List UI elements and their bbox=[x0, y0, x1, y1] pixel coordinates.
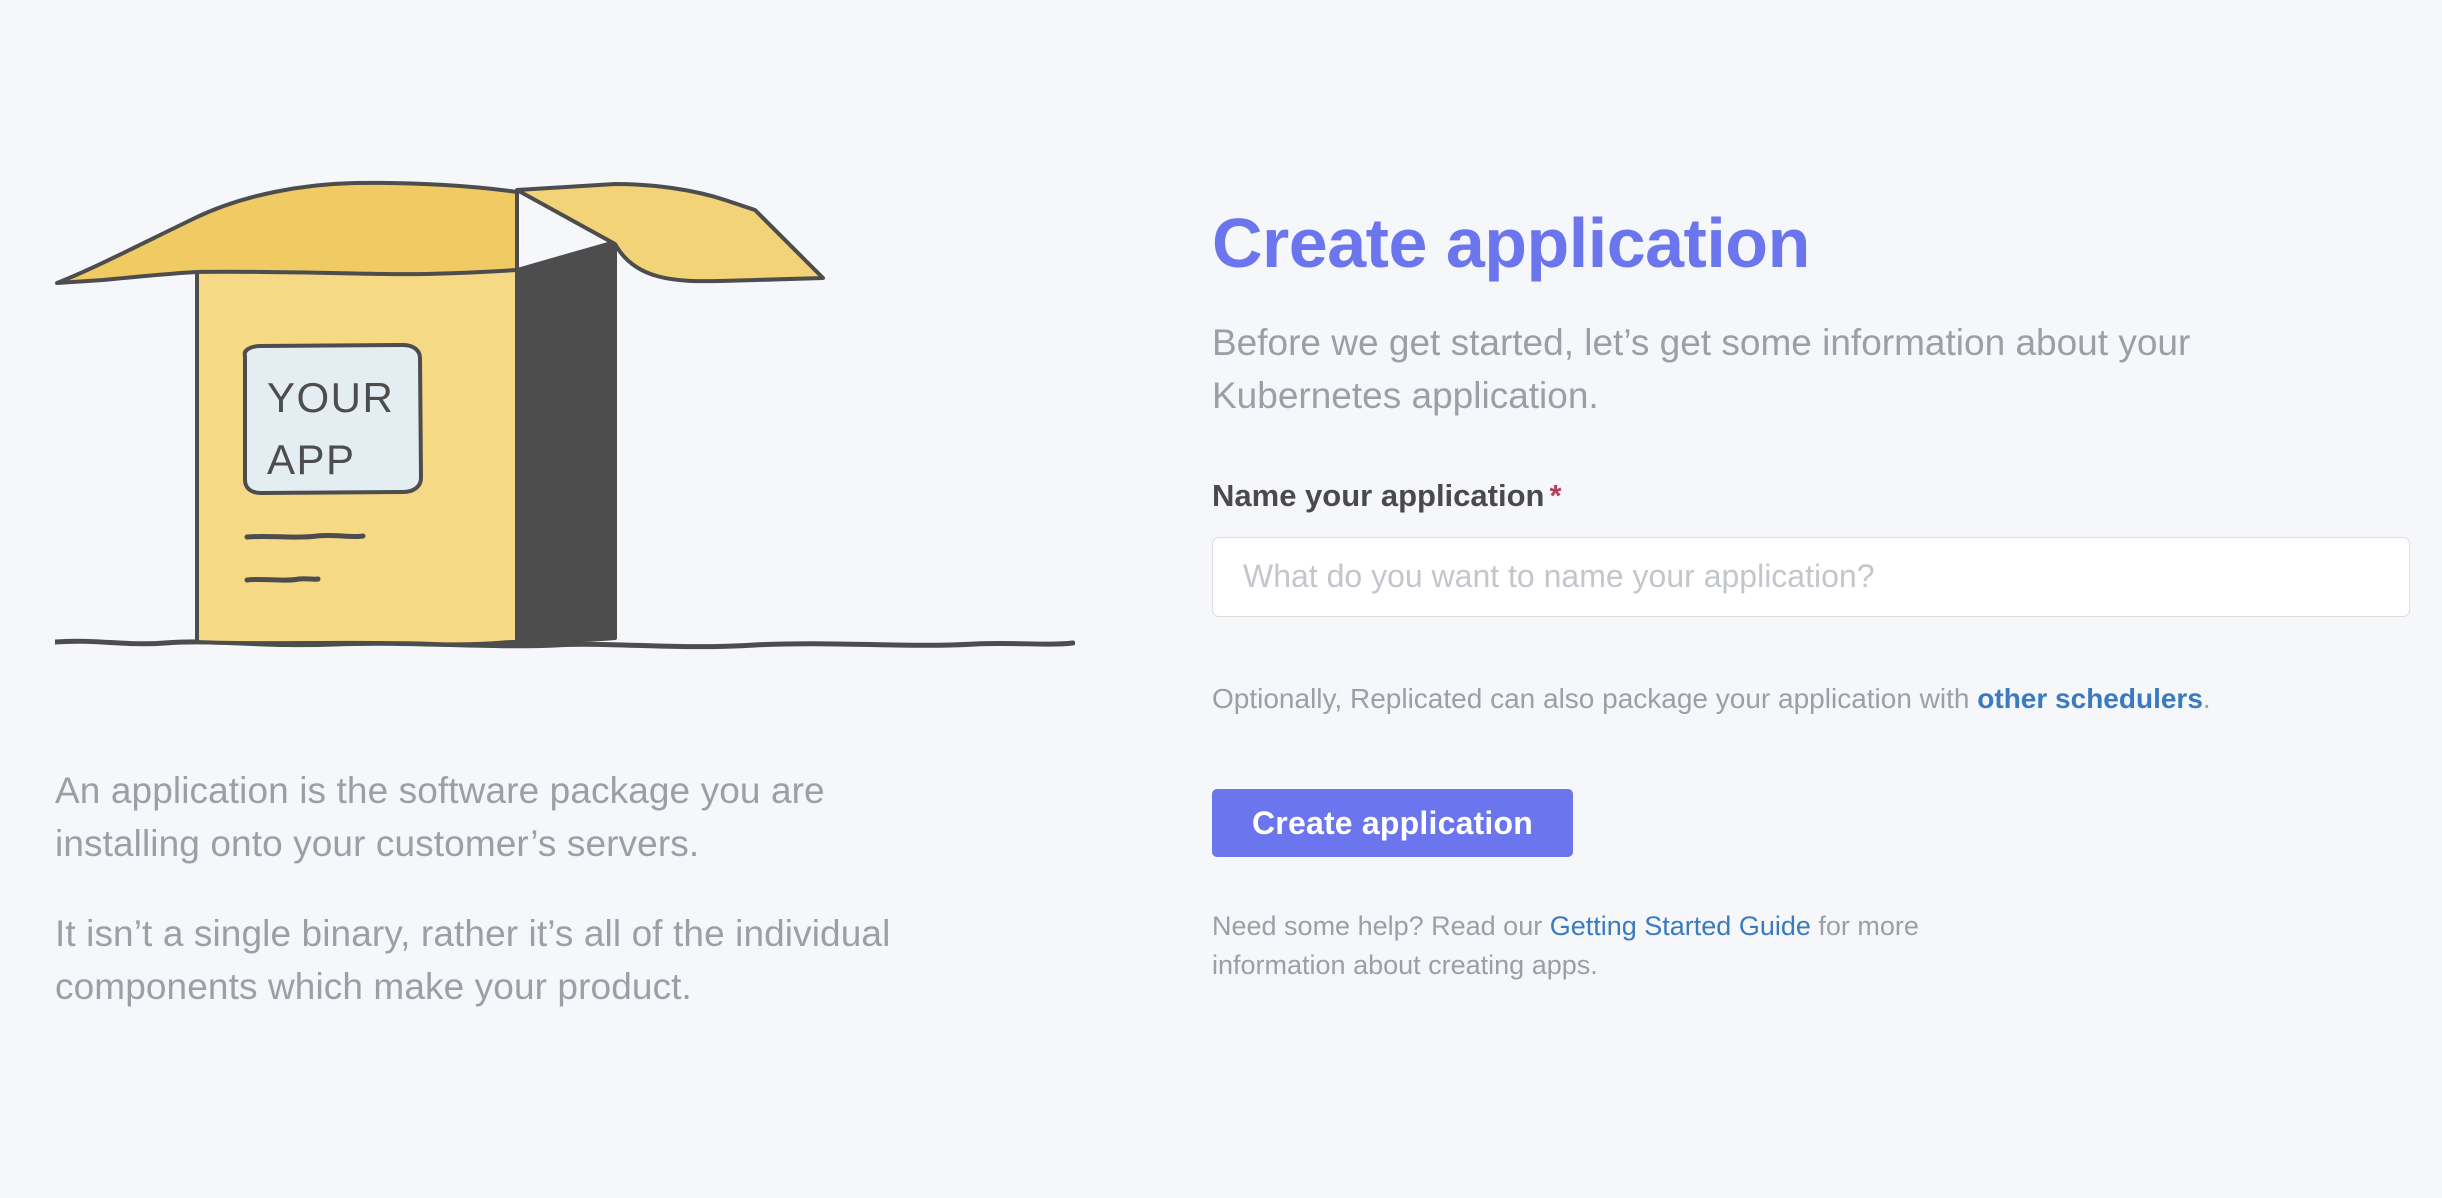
description-paragraph-2: It isn’t a single binary, rather it’s al… bbox=[55, 908, 955, 1013]
page-subtitle: Before we get started, let’s get some in… bbox=[1212, 316, 2352, 423]
help-note: Need some help? Read our Getting Started… bbox=[1212, 907, 2012, 985]
right-column: Create application Before we get started… bbox=[1212, 208, 2412, 1012]
application-name-field-group: Name your application* bbox=[1212, 477, 2412, 617]
left-description: An application is the software package y… bbox=[55, 765, 955, 1013]
cardboard-box-illustration: YOUR APP bbox=[55, 180, 1075, 720]
required-asterisk: * bbox=[1549, 478, 1561, 513]
application-name-label: Name your application* bbox=[1212, 477, 2412, 514]
other-schedulers-link[interactable]: other schedulers bbox=[1977, 683, 2203, 714]
label-text-line1: YOUR bbox=[267, 374, 394, 421]
page-title: Create application bbox=[1212, 208, 2412, 278]
getting-started-guide-link[interactable]: Getting Started Guide bbox=[1550, 911, 1811, 941]
label-text-line2: APP bbox=[267, 436, 356, 483]
application-name-label-text: Name your application bbox=[1212, 478, 1544, 513]
create-application-page: YOUR APP An application is the software … bbox=[0, 0, 2442, 1198]
other-schedulers-note: Optionally, Replicated can also package … bbox=[1212, 679, 2412, 718]
create-application-button[interactable]: Create application bbox=[1212, 789, 1573, 857]
application-name-input[interactable] bbox=[1212, 537, 2410, 617]
your-app-label: YOUR APP bbox=[245, 345, 421, 493]
description-paragraph-1: An application is the software package y… bbox=[55, 765, 955, 870]
help-note-prefix: Need some help? Read our bbox=[1212, 911, 1550, 941]
other-schedulers-note-suffix: . bbox=[2203, 683, 2211, 714]
cardboard-box-icon: YOUR APP bbox=[55, 180, 1075, 720]
left-column: YOUR APP An application is the software … bbox=[55, 180, 1115, 1013]
other-schedulers-note-prefix: Optionally, Replicated can also package … bbox=[1212, 683, 1977, 714]
